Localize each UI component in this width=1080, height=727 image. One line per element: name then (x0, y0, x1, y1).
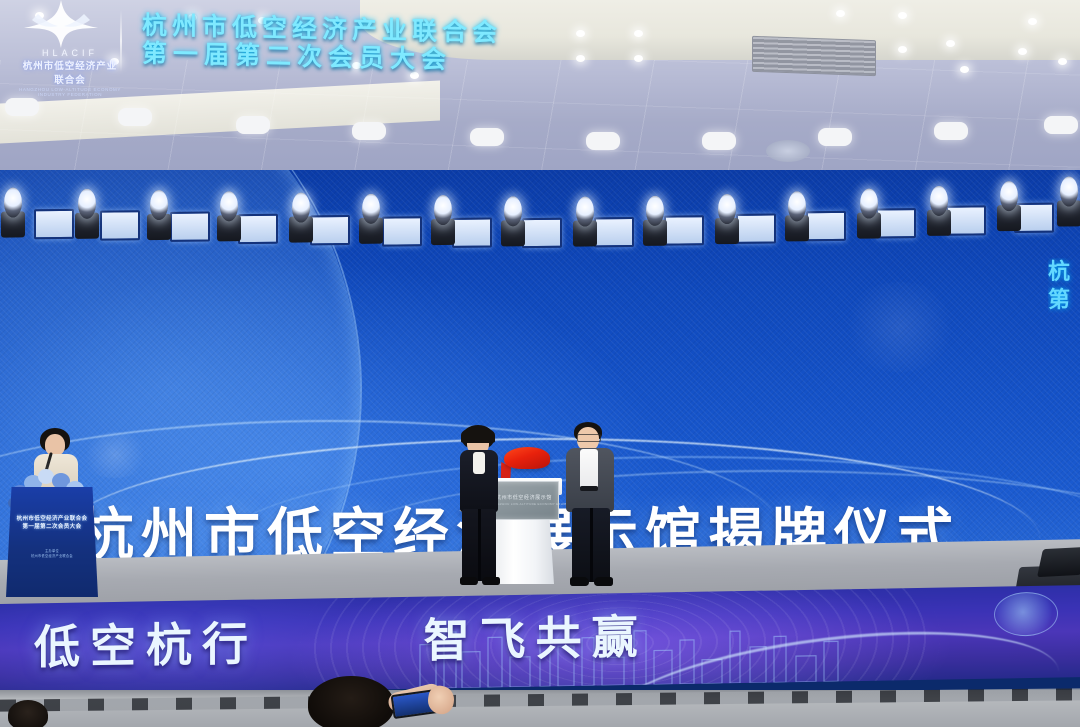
led-wash-panel (100, 210, 140, 240)
shoe-left (460, 577, 478, 585)
led-wash-panel (594, 217, 634, 247)
ceiling-panel-light (352, 122, 386, 140)
logo-english-name: HANGZHOU LOW-ALTITUDE ECONOMY INDUSTRY F… (18, 87, 122, 97)
slogan-right: 智飞共赢 (424, 611, 648, 667)
led-wash-panel (806, 211, 846, 241)
hair (308, 676, 394, 727)
moving-head-stage-light (856, 182, 882, 238)
moving-head-stage-light (0, 181, 26, 237)
shoe-left (570, 577, 589, 586)
logo-chinese-name: 杭州市低空经济产业联合会 (18, 58, 122, 86)
led-wash-panel (522, 218, 562, 248)
stage-monitor-speaker (1037, 547, 1080, 577)
moving-head-stage-light (146, 184, 172, 240)
ceiling-panel-light (470, 128, 504, 146)
moving-head-stage-light (216, 185, 242, 241)
trouser-seam (478, 509, 481, 581)
led-wash-panel (736, 214, 776, 244)
audience-head (8, 700, 48, 727)
podium-title-line2: 第一届第二次会员大会 (6, 523, 98, 531)
ceiling-panel-light (702, 132, 736, 150)
ceiling-panel-light (586, 132, 620, 150)
ceiling-panel-light (5, 98, 39, 116)
bird-wing-logo-icon (18, 0, 104, 54)
face (45, 434, 65, 456)
led-side-text-line1: 杭 (1048, 258, 1078, 286)
moving-head-stage-light (996, 175, 1022, 231)
led-wash-panel (876, 208, 916, 238)
belt (580, 486, 598, 491)
header-banner-title: 杭州市低空经济产业联合会 第一届第二次会员大会 (142, 12, 562, 77)
moving-head-stage-light (642, 190, 668, 246)
led-wash-panel (664, 215, 704, 245)
shoe-right (594, 577, 613, 586)
moving-head-stage-light (74, 183, 100, 239)
moving-head-stage-light (572, 190, 598, 246)
moving-head-stage-light (358, 188, 384, 244)
hair-top (461, 427, 495, 443)
podium-title: 杭州市低空经济产业联合会 第一届第二次会员大会 (6, 515, 98, 532)
moving-head-stage-light (288, 186, 314, 242)
moving-head-stage-light (500, 190, 526, 246)
led-wash-panel (34, 209, 74, 239)
male-official (558, 422, 622, 587)
led-wash-panel (170, 211, 210, 241)
led-wash-panel (310, 215, 350, 245)
led-wash-panel (382, 216, 422, 246)
bottom-led-banner: 低空杭行 智飞共赢 (0, 585, 1080, 696)
podium-footer: 主办单位 杭州市低空经济产业联合会 (6, 549, 98, 559)
audience-photographer (292, 672, 412, 727)
podium-title-line1: 杭州市低空经济产业联合会 (6, 515, 98, 523)
logo-divider (120, 10, 122, 72)
speaker-podium: 杭州市低空经济产业联合会 第一届第二次会员大会 主办单位 杭州市低空经济产业联合… (6, 487, 98, 597)
ceiling-panel-light (236, 116, 270, 134)
female-official (450, 425, 506, 585)
led-glow (840, 282, 960, 372)
moving-head-stage-light (714, 188, 740, 244)
ceiling-panel-light (1044, 116, 1078, 134)
ceiling-panel-light (118, 108, 152, 126)
trouser-seam (590, 508, 593, 582)
led-wash-panel (946, 205, 986, 235)
inner-shirt (473, 452, 485, 474)
inner-shirt (580, 449, 598, 489)
screenshot-root: HLACIF 杭州市低空经济产业联合会 HANGZHOU LOW-ALTITUD… (0, 0, 1080, 727)
shoe-right (482, 577, 500, 585)
red-silk-cloth (504, 447, 550, 469)
moving-head-stage-light (926, 180, 952, 236)
ceiling-panel-light (818, 128, 852, 146)
led-side-text-line2: 第 (1048, 286, 1078, 314)
glasses-icon (577, 434, 601, 442)
led-wash-panel (452, 218, 492, 248)
ceiling-panel-light (934, 122, 968, 140)
ceiling-fan-icon (766, 140, 810, 162)
led-side-text: 杭 第 (1048, 258, 1078, 313)
slogan-separator (281, 657, 401, 659)
moving-head-stage-light (430, 189, 456, 245)
led-wash-panel (238, 214, 278, 244)
moving-head-stage-light (1056, 170, 1080, 226)
podium-footer-line2: 杭州市低空经济产业联合会 (6, 554, 98, 559)
moving-head-stage-light (784, 185, 810, 241)
slogan-left: 低空杭行 (34, 617, 258, 673)
stage-light-truss (0, 170, 1080, 243)
